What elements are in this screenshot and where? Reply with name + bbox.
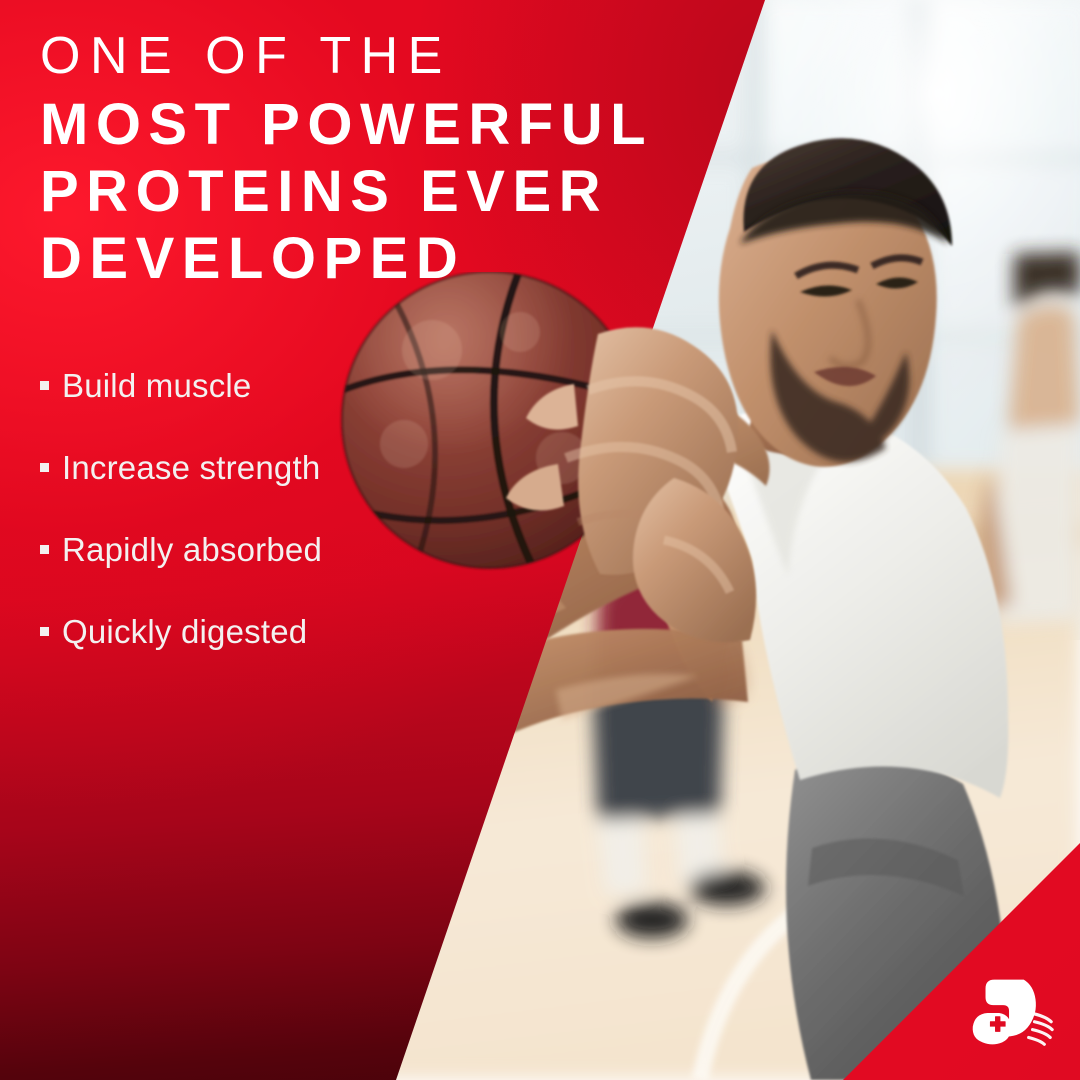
list-item: Build muscle bbox=[40, 369, 700, 402]
square-bullet-icon bbox=[40, 545, 49, 554]
protein-product-ad-image: ONE OF THE MOST POWERFUL PROTEINS EVER D… bbox=[0, 0, 1080, 1080]
list-item: Quickly digested bbox=[40, 615, 700, 648]
headline-line-1: ONE OF THE bbox=[40, 30, 700, 96]
marketing-copy-block: ONE OF THE MOST POWERFUL PROTEINS EVER D… bbox=[40, 30, 700, 697]
flexed-bicep-icon bbox=[973, 980, 1036, 1045]
list-item: Rapidly absorbed bbox=[40, 533, 700, 566]
benefit-label: Rapidly absorbed bbox=[62, 533, 322, 566]
brand-logo bbox=[962, 962, 1060, 1060]
square-bullet-icon bbox=[40, 463, 49, 472]
square-bullet-icon bbox=[40, 381, 49, 390]
benefit-label: Build muscle bbox=[62, 369, 251, 402]
headline-line-2: MOST POWERFUL bbox=[40, 96, 700, 163]
headline-line-4: DEVELOPED bbox=[40, 230, 700, 297]
square-bullet-icon bbox=[40, 627, 49, 636]
list-item: Increase strength bbox=[40, 451, 700, 484]
benefit-label: Increase strength bbox=[62, 451, 320, 484]
headline-line-3: PROTEINS EVER bbox=[40, 163, 700, 230]
benefit-label: Quickly digested bbox=[62, 615, 307, 648]
page-title: ONE OF THE MOST POWERFUL PROTEINS EVER D… bbox=[40, 30, 700, 297]
benefits-list: Build muscle Increase strength Rapidly a… bbox=[40, 369, 700, 648]
